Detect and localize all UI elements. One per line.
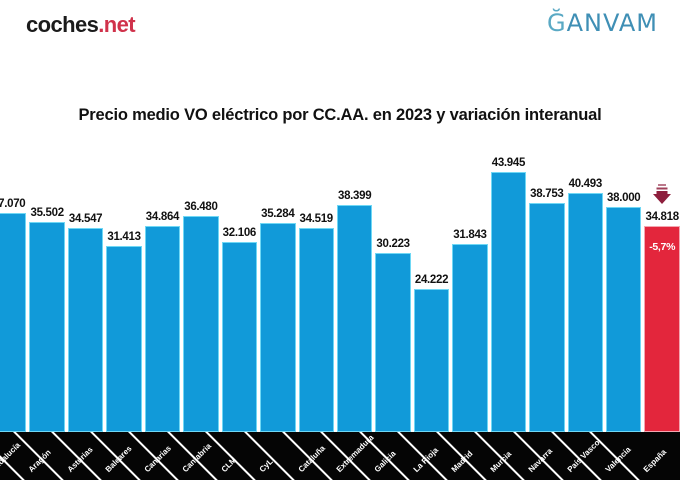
logo-ganvam-text: ANVAM xyxy=(567,9,658,37)
bar[interactable] xyxy=(491,172,526,432)
x-axis-band: AndalucíaAragónAsturiasBalearesCanariasC… xyxy=(0,432,680,480)
bar[interactable] xyxy=(106,246,141,432)
bar-column[interactable]: -13,5%34.864 xyxy=(145,160,180,432)
x-axis-tick: Valencia xyxy=(606,432,641,480)
bar-column[interactable]: +18,4%38.753 xyxy=(529,160,564,432)
bar[interactable] xyxy=(375,253,410,432)
bar-column[interactable]: -16,8%24.222 xyxy=(414,160,449,432)
x-axis-label: Madrid xyxy=(450,449,475,474)
bar-value-label: 36.480 xyxy=(184,201,217,213)
bar[interactable] xyxy=(145,226,180,432)
bar[interactable] xyxy=(452,244,487,432)
x-axis-label: Cantabria xyxy=(181,442,213,474)
bar-column[interactable]: -13,4%34.547 xyxy=(68,160,103,432)
bar-value-label: 34.864 xyxy=(146,211,179,223)
x-axis-tick: España xyxy=(644,432,679,480)
bar-value-label: 32.106 xyxy=(223,227,256,239)
bar-value-label: 35.502 xyxy=(30,207,63,219)
bar-value-label: 38.753 xyxy=(530,188,563,200)
x-axis-label: España xyxy=(642,448,668,474)
bar[interactable] xyxy=(68,228,103,432)
bar[interactable] xyxy=(337,205,372,432)
logo-coches-text: coches xyxy=(26,12,98,37)
bar-value-label: 38.000 xyxy=(607,192,640,204)
bar-value-label: 37.070 xyxy=(0,198,25,210)
x-axis-label: País Vasco xyxy=(565,438,601,474)
bar-column[interactable]: +4,8%35.284 xyxy=(260,160,295,432)
bar-column[interactable]: -10,2%34.519 xyxy=(299,160,334,432)
footer-strip xyxy=(0,480,680,497)
bar-column[interactable]: -22,7%31.413 xyxy=(106,160,141,432)
page-header: coches.net ĞANVAM xyxy=(0,0,680,58)
bar-column[interactable]: -3,6%38.000 xyxy=(606,160,641,432)
bar-value-label: 38.399 xyxy=(338,190,371,202)
bar[interactable] xyxy=(568,193,603,432)
bar-value-label: 30.223 xyxy=(376,238,409,250)
bar[interactable] xyxy=(222,242,257,432)
bar-value-label: 34.519 xyxy=(300,213,333,225)
bar[interactable] xyxy=(529,203,564,432)
bar[interactable] xyxy=(29,222,64,432)
arrow-down-icon xyxy=(651,182,673,206)
bar-column[interactable]: +18,5%43.945 xyxy=(491,160,526,432)
bar-value-label: 24.222 xyxy=(415,274,448,286)
x-axis-label: Murcia xyxy=(488,449,513,474)
bar[interactable] xyxy=(183,216,218,432)
bar-value-label: 31.843 xyxy=(453,229,486,241)
bar-value-label: 40.493 xyxy=(569,178,602,190)
coches-net-logo: coches.net xyxy=(26,12,135,38)
bar-column[interactable]: +7,6%36.480 xyxy=(183,160,218,432)
bar[interactable] xyxy=(606,207,641,432)
bar-column[interactable]: +6,2%40.493 xyxy=(568,160,603,432)
bar-column[interactable]: +36,1%38.399 xyxy=(337,160,372,432)
bar-value-label: 34.818 xyxy=(645,211,678,223)
bar-column[interactable]: -3,1%35.502 xyxy=(29,160,64,432)
chart-plot-area: -1,4%37.070-3,1%35.502-13,4%34.547-22,7%… xyxy=(0,160,680,432)
bar-column[interactable]: -1,4%37.070 xyxy=(0,160,26,432)
bar-column[interactable]: 34.818-5,7% xyxy=(644,160,679,432)
logo-dotnet-text: .net xyxy=(98,12,135,37)
bar-value-label: 43.945 xyxy=(492,157,525,169)
logo-ganvam-initial: Ğ xyxy=(547,9,567,37)
bar-value-label: 34.547 xyxy=(69,213,102,225)
x-axis-labels: AndalucíaAragónAsturiasBalearesCanariasC… xyxy=(0,432,680,480)
bar-column[interactable]: -2,1%32.106 xyxy=(222,160,257,432)
bar-series: -1,4%37.070-3,1%35.502-13,4%34.547-22,7%… xyxy=(0,160,680,432)
x-axis-label: Aragón xyxy=(27,448,53,474)
x-axis-label: CLM xyxy=(219,455,238,474)
bar-value-label: 31.413 xyxy=(107,231,140,243)
x-axis-label: Galicia xyxy=(373,449,398,474)
bar-value-label: 35.284 xyxy=(261,208,294,220)
bar-column[interactable]: -11,2%31.843 xyxy=(452,160,487,432)
bar[interactable]: -5,7% xyxy=(644,226,679,432)
bar[interactable] xyxy=(260,223,295,432)
bar[interactable] xyxy=(414,289,449,432)
ganvam-logo: ĞANVAM xyxy=(547,9,658,37)
bar[interactable] xyxy=(0,213,26,432)
chart-title: Precio medio VO eléctrico por CC.AA. en … xyxy=(0,106,680,125)
bar[interactable] xyxy=(299,228,334,432)
bar-column[interactable]: -8,8%30.223 xyxy=(375,160,410,432)
bar-variation-label: -5,7% xyxy=(649,241,675,253)
